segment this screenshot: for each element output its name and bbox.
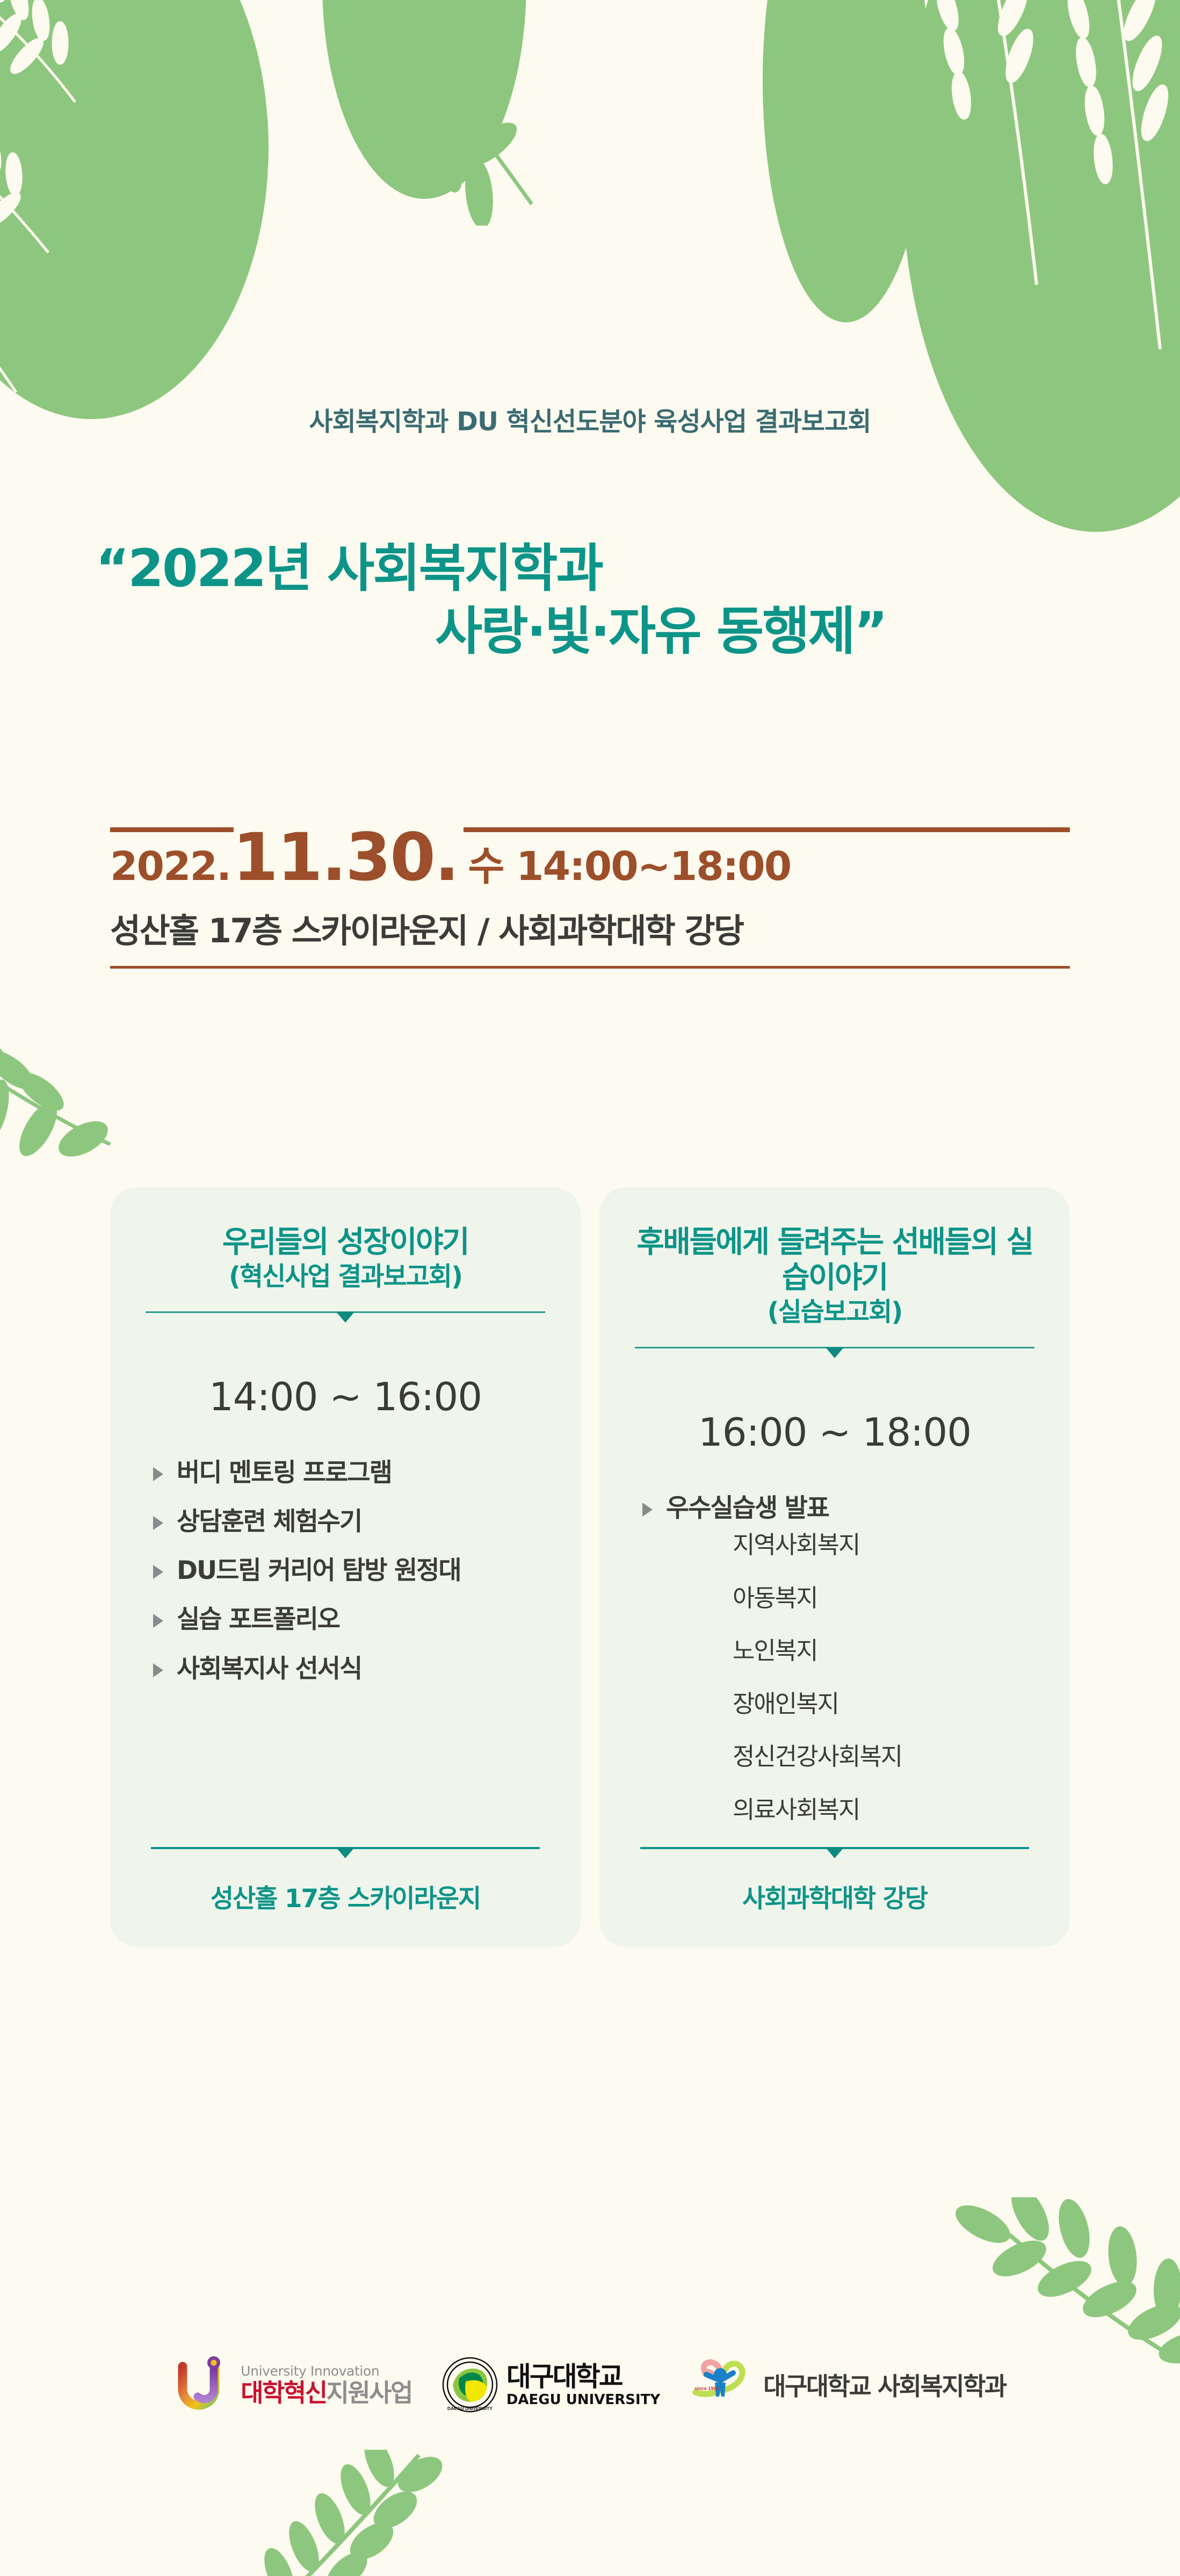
sub-list-item: 지역사회복지 <box>708 1527 1045 1563</box>
poster-title: “2022년 사회복지학과 사랑·빛·자유 동행제” <box>0 537 1180 663</box>
card-2-divider <box>635 1345 1034 1363</box>
du-logo-text: 대구대학교 DAEGU UNIVERSITY <box>506 2363 660 2407</box>
du-logo-en: DAEGU UNIVERSITY <box>506 2393 660 2407</box>
list-item: 우수실습생 발표 지역사회복지 아동복지 노인복지 장애인복지 정신건강사회복지… <box>641 1492 1045 1828</box>
since-label: since 1964 <box>694 2386 719 2391</box>
leaf-blob-top-left-icon <box>0 0 322 419</box>
rule-right <box>464 827 1070 832</box>
list-item: 상담훈련 체험수기 <box>152 1506 556 1538</box>
card-2-list: 우수실습생 발표 지역사회복지 아동복지 노인복지 장애인복지 정신건강사회복지… <box>624 1492 1045 1845</box>
list-item: 버디 멘토링 프로그램 <box>152 1457 556 1489</box>
du-logo-kr: 대구대학교 <box>506 2363 660 2390</box>
leaf-blob-top-right-icon <box>902 0 1180 532</box>
chevron-down-icon <box>336 1312 354 1323</box>
date-time: 수 14:00~18:00 <box>468 834 791 892</box>
leaf-sprig-left-icon <box>0 988 126 1177</box>
sub-list-item: 아동복지 <box>708 1581 1045 1617</box>
card-1-divider <box>146 1310 545 1328</box>
card-1-subtitle: (혁신사업 결과보고회) <box>135 1261 556 1293</box>
sw-logo-kr: 대구대학교 사회복지학과 <box>763 2367 1006 2402</box>
chevron-down-icon <box>336 1848 354 1858</box>
svg-text:DAEGU UNIVERSITY: DAEGU UNIVERSITY <box>447 2406 493 2411</box>
card-1-time: 14:00 ~ 16:00 <box>135 1374 556 1419</box>
program-cards: 우리들의 성장이야기 (혁신사업 결과보고회) 14:00 ~ 16:00 버디… <box>110 1187 1070 1947</box>
card-2-title: 후배들에게 들려주는 선배들의 실습이야기 <box>624 1225 1045 1296</box>
sub-list-item: 노인복지 <box>708 1633 1045 1669</box>
logo-university-innovation: University Innovation 대학혁신지원사업 <box>174 2356 412 2414</box>
card-2-time: 16:00 ~ 18:00 <box>624 1410 1045 1455</box>
triangle-bullet-icon <box>153 1565 163 1579</box>
sub-list-item: 장애인복지 <box>708 1686 1045 1722</box>
date-rule-row <box>0 827 1180 832</box>
triangle-bullet-icon <box>153 1467 163 1481</box>
title-line-2: 사랑·빛·자유 동행제” <box>0 600 1180 663</box>
list-item-label: 우수실습생 발표 <box>666 1493 829 1523</box>
daegu-university-seal-icon: DAEGU UNIVERSITY <box>442 2357 498 2413</box>
logo-social-welfare-dept: since 1964 대구대학교 사회복지학과 <box>690 2357 1006 2413</box>
date-day: 11.30. <box>233 825 458 890</box>
logo-daegu-university: DAEGU UNIVERSITY 대구대학교 DAEGU UNIVERSITY <box>442 2357 660 2413</box>
card-1-title: 우리들의 성장이야기 <box>135 1225 556 1260</box>
ui-logo-kr-gray: 지원사업 <box>327 2378 412 2407</box>
triangle-bullet-icon <box>153 1663 163 1677</box>
leaf-sprig-bottom-middle-icon <box>263 2450 489 2576</box>
list-item-label: 상담훈련 체험수기 <box>177 1507 361 1536</box>
list-item: 사회복지사 선서식 <box>152 1653 556 1685</box>
card-2-footer: 사회과학대학 강당 <box>624 1845 1045 1915</box>
card-2-location: 사회과학대학 강당 <box>624 1878 1045 1915</box>
triangle-bullet-icon <box>153 1516 163 1530</box>
card-1-foot-divider <box>151 1845 540 1864</box>
list-item-label: 버디 멘토링 프로그램 <box>177 1458 392 1488</box>
chevron-down-icon <box>826 1347 844 1358</box>
date-year: 2022. <box>110 843 230 890</box>
rule-left <box>110 827 234 832</box>
leaf-blob-top-right-small-icon <box>763 0 929 322</box>
date-time-block: 2022. 11.30. 수 14:00~18:00 성산홀 17층 스카이라운… <box>0 827 1180 969</box>
event-poster: 사회복지학과 DU 혁신선도분야 육성사업 결과보고회 “2022년 사회복지학… <box>0 0 1180 2576</box>
leaf-sprig-top-icon <box>354 0 580 226</box>
eyebrow-text: 사회복지학과 DU 혁신선도분야 육성사업 결과보고회 <box>0 400 1180 438</box>
list-item-label: 사회복지사 선서식 <box>177 1654 361 1684</box>
list-item: 실습 포트폴리오 <box>152 1604 556 1635</box>
ui-mark-icon <box>174 2356 232 2414</box>
card-2-sub-list: 지역사회복지 아동복지 노인복지 장애인복지 정신건강사회복지 의료사회복지 <box>708 1527 1045 1828</box>
sub-list-item: 의료사회복지 <box>708 1792 1045 1828</box>
triangle-bullet-icon <box>153 1614 163 1628</box>
triangle-bullet-icon <box>642 1503 653 1517</box>
list-item-label: DU드림 커리어 탐방 원정대 <box>177 1556 461 1585</box>
program-card-1[interactable]: 우리들의 성장이야기 (혁신사업 결과보고회) 14:00 ~ 16:00 버디… <box>110 1187 581 1947</box>
ui-logo-kr: 대학혁신지원사업 <box>241 2380 412 2405</box>
card-1-list: 버디 멘토링 프로그램 상담훈련 체험수기 DU드림 커리어 탐방 원정대 실습… <box>135 1457 556 1702</box>
list-item: DU드림 커리어 탐방 원정대 <box>152 1555 556 1586</box>
venue-rule <box>110 966 1070 969</box>
card-2-subtitle: (실습보고회) <box>624 1297 1045 1328</box>
leaf-blob-top-middle-icon <box>322 0 526 199</box>
footer-logos: University Innovation 대학혁신지원사업 DAEGU UNI… <box>0 2356 1180 2414</box>
card-1-location: 성산홀 17층 스카이라운지 <box>135 1878 556 1915</box>
list-item-label: 실습 포트폴리오 <box>177 1605 339 1634</box>
ui-logo-text: University Innovation 대학혁신지원사업 <box>241 2364 412 2405</box>
program-card-2[interactable]: 후배들에게 들려주는 선배들의 실습이야기 (실습보고회) 16:00 ~ 18… <box>599 1187 1070 1947</box>
chevron-down-icon <box>826 1848 844 1858</box>
ui-logo-kr-red: 대학혁신 <box>241 2378 326 2407</box>
card-2-foot-divider <box>640 1845 1029 1864</box>
heart-person-icon: since 1964 <box>690 2357 755 2413</box>
title-line-1: “2022년 사회복지학과 <box>0 537 1180 600</box>
venue-line: 성산홀 17층 스카이라운지 / 사회과학대학 강당 <box>0 904 1180 952</box>
ui-logo-en: University Innovation <box>241 2364 412 2378</box>
date-row: 2022. 11.30. 수 14:00~18:00 <box>0 825 1180 892</box>
sub-list-item: 정신건강사회복지 <box>708 1739 1045 1775</box>
card-1-footer: 성산홀 17층 스카이라운지 <box>135 1845 556 1915</box>
